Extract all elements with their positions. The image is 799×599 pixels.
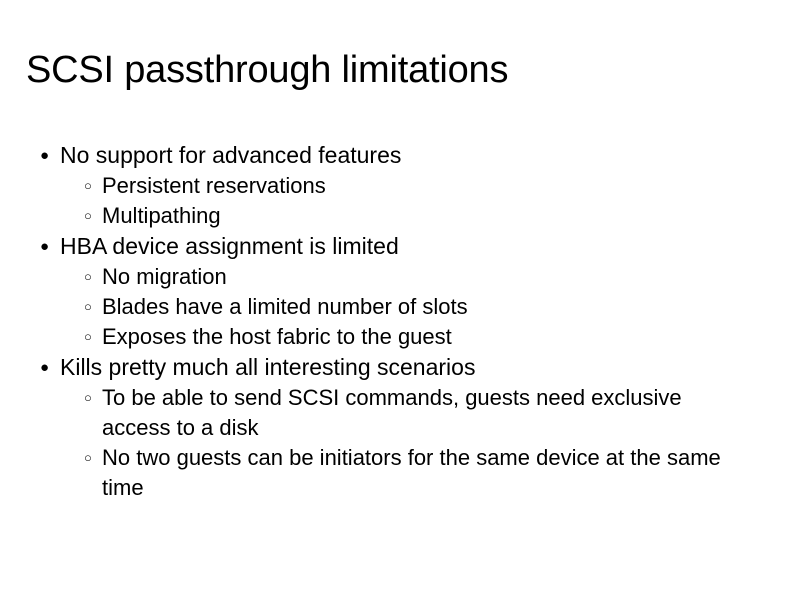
hollow-circle-icon: ○	[84, 292, 102, 322]
bullet-text: No migration	[102, 262, 742, 292]
hollow-circle-icon: ○	[84, 443, 102, 473]
bullet-item: ○Persistent reservations	[84, 171, 770, 201]
bullet-item: ○Blades have a limited number of slots	[84, 292, 770, 322]
bullet-text: Kills pretty much all interesting scenar…	[60, 352, 770, 383]
slide-body: ●No support for advanced features○Persis…	[40, 140, 770, 503]
bullet-text: To be able to send SCSI commands, guests…	[102, 383, 742, 443]
hollow-circle-icon: ○	[84, 322, 102, 352]
bullet-item: ●No support for advanced features	[40, 140, 770, 171]
bullet-item: ●HBA device assignment is limited	[40, 231, 770, 262]
hollow-circle-icon: ○	[84, 262, 102, 292]
bullet-item: ●Kills pretty much all interesting scena…	[40, 352, 770, 383]
bullet-text: No two guests can be initiators for the …	[102, 443, 742, 503]
filled-disc-icon: ●	[40, 352, 60, 383]
slide-title: SCSI passthrough limitations	[26, 47, 766, 93]
bullet-text: HBA device assignment is limited	[60, 231, 770, 262]
filled-disc-icon: ●	[40, 140, 60, 171]
bullet-item: ○No two guests can be initiators for the…	[84, 443, 770, 503]
hollow-circle-icon: ○	[84, 171, 102, 201]
bullet-text: Exposes the host fabric to the guest	[102, 322, 742, 352]
bullet-text: No support for advanced features	[60, 140, 770, 171]
slide: SCSI passthrough limitations ●No support…	[0, 0, 799, 599]
bullet-list: ●No support for advanced features○Persis…	[40, 140, 770, 503]
filled-disc-icon: ●	[40, 231, 60, 262]
bullet-text: Blades have a limited number of slots	[102, 292, 742, 322]
hollow-circle-icon: ○	[84, 201, 102, 231]
bullet-text: Persistent reservations	[102, 171, 742, 201]
bullet-text: Multipathing	[102, 201, 742, 231]
bullet-item: ○To be able to send SCSI commands, guest…	[84, 383, 770, 443]
hollow-circle-icon: ○	[84, 383, 102, 413]
bullet-item: ○Exposes the host fabric to the guest	[84, 322, 770, 352]
bullet-item: ○Multipathing	[84, 201, 770, 231]
bullet-item: ○No migration	[84, 262, 770, 292]
